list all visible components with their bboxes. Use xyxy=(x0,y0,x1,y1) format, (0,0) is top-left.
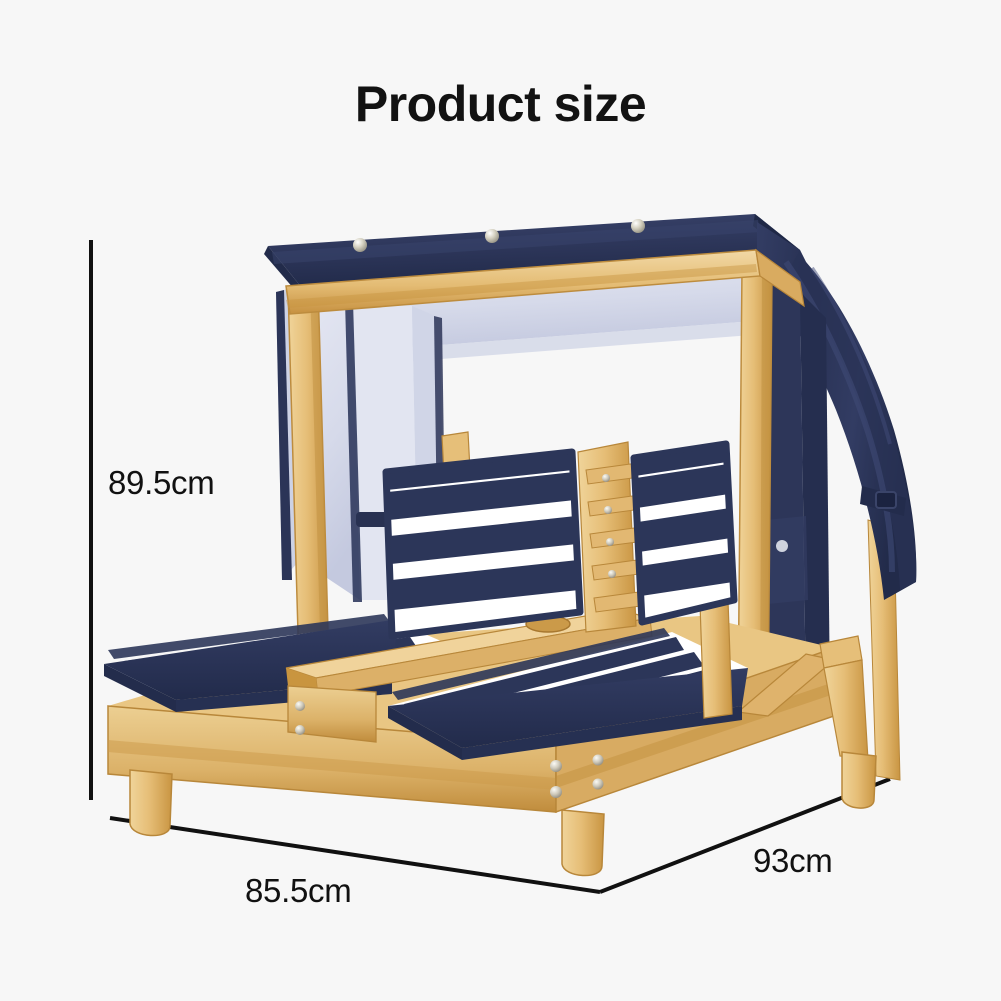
depth-dimension-label: 93cm xyxy=(753,842,833,880)
leg-front-right xyxy=(562,810,604,876)
base-screw-4 xyxy=(593,779,604,790)
backrest-cushion-left xyxy=(386,452,580,636)
canopy-stud-3 xyxy=(631,219,645,233)
leg-front-left xyxy=(130,770,172,836)
canopy-stud-2 xyxy=(485,229,499,243)
width-dimension-label: 85.5cm xyxy=(245,872,351,910)
backrest-cushion-right xyxy=(634,444,734,622)
base-screw-3 xyxy=(593,755,604,766)
canopy-stud-1 xyxy=(353,238,367,252)
backrest-post-right xyxy=(700,600,732,718)
product-illustration xyxy=(104,214,916,876)
height-dimension-label: 89.5cm xyxy=(108,464,214,502)
leg-rear-right xyxy=(842,752,876,808)
product-size-page: Product size xyxy=(0,0,1001,1001)
drape-buckle xyxy=(876,492,896,508)
curtain-snap-1 xyxy=(776,540,788,552)
width-dimension-line xyxy=(110,818,600,892)
base-screw-1 xyxy=(550,760,562,772)
base-screw-2 xyxy=(550,786,562,798)
